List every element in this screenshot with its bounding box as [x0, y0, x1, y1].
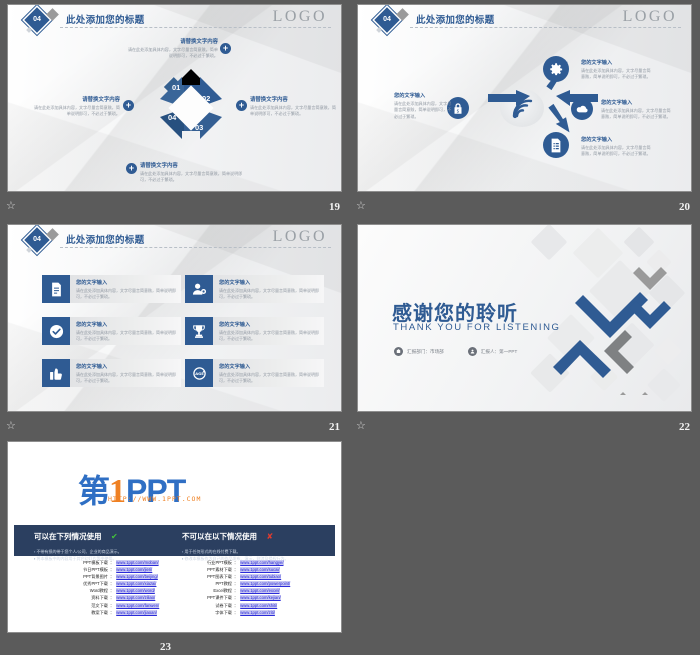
- link-row[interactable]: PPT模板下载：www.1ppt.com/moban/: [74, 560, 159, 566]
- radial-text-document-desc: 请在此处添加具体内容，文字尽量言简意赅，简单说明即可，不必过于繁琐。: [581, 145, 653, 158]
- cycle-text-left-desc: 请在此处添加具体内容，文字尽量言简意赅，简单说明即可，不必过于繁琐。: [34, 105, 120, 118]
- link-label: PPT模板下载: [74, 560, 108, 566]
- list-item[interactable]: 您的文字输入 请在此处添加具体内容，文字尽量言简意赅，简单说明即可，不必过于繁琐…: [185, 317, 324, 345]
- slide-20[interactable]: 04 此处添加您的标题 LOGO: [358, 5, 691, 191]
- cycle-number-01: 01: [172, 83, 180, 92]
- section-badge-number: 04: [28, 11, 46, 29]
- page-title: 此处添加您的标题: [66, 12, 144, 26]
- link-row[interactable]: 范文下载：www.1ppt.com/fanwen/: [74, 603, 159, 609]
- slide-22[interactable]: 感谢您的聆听 THANK YOU FOR LISTENING 汇报部门：市场部 …: [358, 225, 691, 411]
- link-label: PPT课件下载: [198, 595, 232, 601]
- link-url[interactable]: www.1ppt.com/sucai/: [240, 567, 279, 572]
- link-separator: ：: [108, 581, 116, 587]
- trophy-icon: [185, 317, 213, 345]
- list-item-title: 您的文字输入: [76, 279, 180, 286]
- radial-text-cloud: 您的文字输入 请在此处添加具体内容，文字尽量言简意赅，简单说明即可，不必过于繁琐…: [601, 99, 671, 121]
- slide-cell-20[interactable]: 04 此处添加您的标题 LOGO: [350, 0, 700, 215]
- star-outline-icon[interactable]: ☆: [356, 200, 368, 212]
- link-row[interactable]: Excel教程：www.1ppt.com/excel/: [198, 588, 290, 594]
- list-item-desc: 请在此处添加具体内容，文字尽量言简意赅，简单说明即可，不必过于繁琐。: [219, 372, 323, 384]
- link-url[interactable]: www.1ppt.com/ziti/: [240, 610, 275, 615]
- cycle-text-bottom-title: 请替换文字内容: [140, 161, 244, 169]
- link-separator: ：: [108, 560, 116, 566]
- cycle-arrow-shape: [148, 65, 234, 151]
- radial-text-gear-desc: 请在此处添加具体内容，文字尽量言简意赅，简单说明即可，不必过于繁琐。: [581, 68, 651, 81]
- cycle-text-right-desc: 请在此处添加具体内容，文字尽量言简意赅，简单说明即可，不必过于繁琐。: [250, 105, 338, 118]
- cross-mark-icon: ✘: [266, 532, 273, 541]
- slide-caption-bar-23: 23: [0, 635, 350, 655]
- link-separator: ：: [108, 588, 116, 594]
- link-label: 字体下载: [198, 610, 232, 616]
- license-band: 可以在下列情况使用 ✔ 不带有损的带于您个人/公司、企业的商品演示。 将本模板中…: [14, 525, 335, 556]
- radial-text-cloud-desc: 请在此处添加具体内容，文字尽量言简意赅，简单说明即可，不必过于繁琐。: [601, 108, 671, 121]
- plus-icon: +: [123, 100, 134, 111]
- slide-23[interactable]: 第 1 PPT HTTP://WWW.1PPT.COM 可以在下列情况使用 ✔ …: [8, 442, 341, 632]
- link-label: PPT图表下载: [198, 574, 232, 580]
- link-url[interactable]: www.1ppt.com/tubiao/: [240, 574, 281, 579]
- link-separator: ：: [232, 560, 240, 566]
- list-item[interactable]: 您的文字输入 请在此处添加具体内容，文字尽量言简意赅，简单说明即可，不必过于繁琐…: [42, 275, 181, 303]
- cycle-text-left: 请替换文字内容 请在此处添加具体内容，文字尽量言简意赅，简单说明即可，不必过于繁…: [34, 95, 120, 117]
- link-row[interactable]: 试卷下载：www.1ppt.com/shiti/: [198, 603, 290, 609]
- cycle-number-04: 04: [168, 113, 176, 122]
- license-allowed-item: 不带有损的带于您个人/公司、企业的商品演示。: [34, 549, 174, 554]
- cycle-text-bottom: 请替换文字内容 请在此处添加具体内容，文字尽量言简意赅，简单说明即可，不必过于繁…: [140, 161, 244, 183]
- header-divider: [60, 247, 331, 248]
- license-forbidden-heading: 不可以在以下情况使用: [182, 531, 257, 542]
- slide-thumbnail-grid: 04 此处添加您的标题 LOGO: [0, 0, 700, 655]
- document-icon: [42, 275, 70, 303]
- link-label: PPT背景图片: [74, 574, 108, 580]
- link-row[interactable]: 优秀PPT下载：www.1ppt.com/xiazai/: [74, 581, 159, 587]
- list-item-title: 您的文字输入: [219, 363, 323, 370]
- logo: LOGO: [623, 8, 677, 26]
- link-separator: ：: [108, 603, 116, 609]
- link-url[interactable]: www.1ppt.com/shiti/: [240, 603, 277, 608]
- resource-links: PPT模板下载：www.1ppt.com/moban/ 节日PPT模板：www.…: [8, 560, 341, 622]
- link-url[interactable]: www.1ppt.com/kejian/: [240, 595, 281, 600]
- link-url[interactable]: www.1ppt.com/beijing/: [116, 574, 158, 579]
- resource-links-column-right: 行业PPT模板：www.1ppt.com/hangye/ PPT素材下载：www…: [198, 560, 290, 617]
- slide-page-number: 22: [679, 421, 690, 433]
- brand-url: HTTP://WWW.1PPT.COM: [108, 495, 201, 503]
- link-row[interactable]: PPT素材下载：www.1ppt.com/sucai/: [198, 567, 290, 573]
- slide-21[interactable]: 04 此处添加您的标题 LOGO 您的文字输入 请在此处添加具体内容，文字尽量言…: [8, 225, 341, 411]
- link-label: PPT教程: [198, 581, 232, 587]
- logo: LOGO: [273, 8, 327, 26]
- meta-presenter-label: 汇报人：第一PPT: [481, 349, 518, 355]
- thank-you-meta: 汇报部门：市场部 汇报人：第一PPT: [394, 347, 517, 356]
- cycle-text-left-title: 请替换文字内容: [34, 95, 120, 103]
- department-icon: [394, 347, 403, 356]
- link-url[interactable]: www.1ppt.com/word/: [116, 588, 155, 593]
- slide-caption-bar-21: ☆ 21: [0, 415, 350, 435]
- cycle-number-03: 03: [195, 123, 203, 132]
- slide-19[interactable]: 04 此处添加您的标题 LOGO: [8, 5, 341, 191]
- check-mark-icon: ✔: [111, 532, 118, 541]
- license-allowed-heading: 可以在下列情况使用: [34, 531, 102, 542]
- link-row[interactable]: 节日PPT模板：www.1ppt.com/jieri/: [74, 567, 159, 573]
- link-label: 试卷下载: [198, 603, 232, 609]
- link-label: 教案下载: [74, 610, 108, 616]
- list-item-desc: 请在此处添加具体内容，文字尽量言简意赅，简单说明即可，不必过于繁琐。: [76, 372, 180, 384]
- refresh-circle-icon: AGE: [185, 359, 213, 387]
- link-separator: ：: [232, 610, 240, 616]
- list-item-title: 您的文字输入: [219, 279, 323, 286]
- person-icon: [468, 347, 477, 356]
- decor-chevrons: [528, 245, 691, 395]
- plus-icon: +: [220, 43, 231, 54]
- slide-cell-23[interactable]: 第 1 PPT HTTP://WWW.1PPT.COM 可以在下列情况使用 ✔ …: [0, 437, 350, 655]
- cycle-text-bottom-desc: 请在此处添加具体内容，文字尽量言简意赅，简单说明即可，不必过于繁琐。: [140, 171, 244, 184]
- list-item-title: 您的文字输入: [219, 321, 323, 328]
- plus-icon: +: [236, 100, 247, 111]
- thank-you-subtitle: THANK YOU FOR LISTENING: [393, 322, 561, 333]
- link-url[interactable]: www.1ppt.com/jieri/: [116, 567, 152, 572]
- page-title: 此处添加您的标题: [66, 232, 144, 246]
- svg-text:AGE: AGE: [195, 372, 204, 376]
- radial-text-gear-title: 您的文字输入: [581, 59, 651, 66]
- cycle-text-right-title: 请替换文字内容: [250, 95, 338, 103]
- meta-department-label: 汇报部门：市场部: [407, 349, 444, 355]
- list-item-title: 您的文字输入: [76, 321, 180, 328]
- list-item-desc: 请在此处添加具体内容，文字尽量言简意赅，简单说明即可，不必过于繁琐。: [219, 330, 323, 342]
- list-item-text: 您的文字输入 请在此处添加具体内容，文字尽量言简意赅，简单说明即可，不必过于繁琐…: [76, 279, 180, 300]
- link-row[interactable]: Word教程：www.1ppt.com/word/: [74, 588, 159, 594]
- link-row[interactable]: 行业PPT模板：www.1ppt.com/hangye/: [198, 560, 290, 566]
- cycle-diagram: 01 02 03 04 请替换文字内容 请在此处添加具体内容，文字尽量言简意赅，…: [8, 33, 341, 191]
- list-item-text: 您的文字输入 请在此处添加具体内容，文字尽量言简意赅，简单说明即可，不必过于繁琐…: [219, 363, 323, 384]
- slide-page-number: 20: [679, 201, 690, 213]
- link-separator: ：: [232, 567, 240, 573]
- star-outline-icon[interactable]: ☆: [356, 420, 368, 432]
- link-url[interactable]: www.1ppt.com/moban/: [116, 560, 158, 565]
- slide-page-number: 19: [329, 201, 340, 213]
- list-item-desc: 请在此处添加具体内容，文字尽量言简意赅，简单说明即可，不必过于繁琐。: [219, 288, 323, 300]
- link-url[interactable]: www.1ppt.com/jiaoan/: [116, 610, 157, 615]
- header-divider: [410, 27, 681, 28]
- radial-text-lock: 您的文字输入 请在此处添加具体内容，文字尽量言简意赅，简单说明即可，不必过于繁琐…: [394, 92, 452, 120]
- radial-text-document-title: 您的文字输入: [581, 136, 653, 143]
- link-row[interactable]: 资料下载：www.1ppt.com/ziliao/: [74, 595, 159, 601]
- link-row[interactable]: PPT图表下载：www.1ppt.com/tubiao/: [198, 574, 290, 580]
- list-item-desc: 请在此处添加具体内容，文字尽量言简意赅，简单说明即可，不必过于繁琐。: [76, 288, 180, 300]
- brand-prefix: 第: [78, 466, 109, 512]
- slide-cell-22[interactable]: 感谢您的聆听 THANK YOU FOR LISTENING 汇报部门：市场部 …: [350, 220, 700, 435]
- license-forbidden-item: 用于任何形式的在线付费下载。: [182, 549, 332, 554]
- radial-text-lock-desc: 请在此处添加具体内容，文字尽量言简意赅，简单说明即可，不必过于繁琐。: [394, 101, 452, 121]
- cycle-arrows: 01 02 03 04: [148, 65, 234, 151]
- license-allowed: 可以在下列情况使用 ✔ 不带有损的带于您个人/公司、企业的商品演示。 将本模板中…: [34, 528, 174, 561]
- radial-text-lock-title: 您的文字输入: [394, 92, 452, 99]
- link-url[interactable]: www.1ppt.com/excel/: [240, 588, 279, 593]
- thumbs-up-icon: [42, 359, 70, 387]
- svg-text:$: $: [457, 108, 460, 114]
- link-label: Word教程: [74, 588, 108, 594]
- slide-caption-bar-19: ☆ 19: [0, 195, 350, 215]
- link-separator: ：: [232, 574, 240, 580]
- link-separator: ：: [108, 574, 116, 580]
- logo: LOGO: [273, 228, 327, 246]
- meta-presenter: 汇报人：第一PPT: [468, 347, 518, 356]
- slide-header: 04 此处添加您的标题 LOGO: [358, 5, 691, 35]
- cycle-number-02: 02: [202, 94, 210, 103]
- user-settings-icon: [185, 275, 213, 303]
- link-separator: ：: [108, 610, 116, 616]
- star-outline-icon[interactable]: ☆: [6, 200, 18, 212]
- page-title: 此处添加您的标题: [416, 12, 494, 26]
- license-forbidden: 不可以在以下情况使用 ✘ 用于任何形式的在线付费下载。 修改本模板作为自己的作品…: [182, 528, 332, 561]
- link-url[interactable]: www.1ppt.com/hangye/: [240, 560, 283, 565]
- plus-icon: +: [126, 163, 137, 174]
- slide-page-number: 23: [160, 641, 171, 653]
- slide-caption-bar-20: ☆ 20: [350, 195, 700, 215]
- list-item[interactable]: AGE 您的文字输入 请在此处添加具体内容，文字尽量言简意赅，简单说明即可，不必…: [185, 359, 324, 387]
- list-item-text: 您的文字输入 请在此处添加具体内容，文字尽量言简意赅，简单说明即可，不必过于繁琐…: [76, 321, 180, 342]
- link-label: PPT素材下载: [198, 567, 232, 573]
- slide-cell-21[interactable]: 04 此处添加您的标题 LOGO 您的文字输入 请在此处添加具体内容，文字尽量言…: [0, 220, 350, 435]
- radial-text-gear: 您的文字输入 请在此处添加具体内容，文字尽量言简意赅，简单说明即可，不必过于繁琐…: [581, 59, 651, 81]
- radial-text-cloud-title: 您的文字输入: [601, 99, 671, 106]
- link-url[interactable]: www.1ppt.com/xiazai/: [116, 581, 156, 586]
- section-badge-number: 04: [378, 11, 396, 29]
- link-separator: ：: [108, 595, 116, 601]
- list-item[interactable]: 您的文字输入 请在此处添加具体内容，文字尽量言简意赅，简单说明即可，不必过于繁琐…: [185, 275, 324, 303]
- list-item-desc: 请在此处添加具体内容，文字尽量言简意赅，简单说明即可，不必过于繁琐。: [76, 330, 180, 342]
- section-badge-number: 04: [28, 231, 46, 249]
- link-separator: ：: [232, 603, 240, 609]
- star-outline-icon[interactable]: ☆: [6, 420, 18, 432]
- header-divider: [60, 27, 331, 28]
- document-icon: [543, 132, 569, 158]
- resource-links-column-left: PPT模板下载：www.1ppt.com/moban/ 节日PPT模板：www.…: [74, 560, 159, 617]
- check-circle-icon: [42, 317, 70, 345]
- link-row[interactable]: PPT课件下载：www.1ppt.com/kejian/: [198, 595, 290, 601]
- link-label: 行业PPT模板: [198, 560, 232, 566]
- brand-one: 1: [109, 473, 126, 511]
- link-label: Excel教程: [198, 588, 232, 594]
- link-label: 节日PPT模板: [74, 567, 108, 573]
- link-label: 范文下载: [74, 603, 108, 609]
- link-url[interactable]: www.1ppt.com/powerpoint/: [240, 581, 290, 586]
- slide-caption-bar-22: ☆ 22: [350, 415, 700, 435]
- link-label: 优秀PPT下载: [74, 581, 108, 587]
- link-separator: ：: [232, 581, 240, 587]
- radial-text-document: 您的文字输入 请在此处添加具体内容，文字尽量言简意赅，简单说明即可，不必过于繁琐…: [581, 136, 653, 158]
- meta-department: 汇报部门：市场部: [394, 347, 444, 356]
- link-separator: ：: [232, 595, 240, 601]
- link-row[interactable]: 字体下载：www.1ppt.com/ziti/: [198, 610, 290, 616]
- cycle-text-top-desc: 请在此处添加具体内容，文字尽量言简意赅，简单说明即可，不必过于繁琐。: [126, 47, 218, 60]
- slide-header: 04 此处添加您的标题 LOGO: [8, 225, 341, 255]
- link-label: 资料下载: [74, 595, 108, 601]
- cycle-text-top: 请替换文字内容 请在此处添加具体内容，文字尽量言简意赅，简单说明即可，不必过于繁…: [126, 37, 218, 59]
- brand-suffix: PPT: [126, 473, 185, 510]
- cycle-text-right: 请替换文字内容 请在此处添加具体内容，文字尽量言简意赅，简单说明即可，不必过于繁…: [250, 95, 338, 117]
- list-item[interactable]: 您的文字输入 请在此处添加具体内容，文字尽量言简意赅，简单说明即可，不必过于繁琐…: [42, 317, 181, 345]
- cloud-icon: [571, 98, 593, 120]
- list-item-title: 您的文字输入: [76, 363, 180, 370]
- link-row[interactable]: PPT教程：www.1ppt.com/powerpoint/: [198, 581, 290, 587]
- list-item[interactable]: 您的文字输入 请在此处添加具体内容，文字尽量言简意赅，简单说明即可，不必过于繁琐…: [42, 359, 181, 387]
- slide-cell-19[interactable]: 04 此处添加您的标题 LOGO: [0, 0, 350, 215]
- gear-icon: [543, 56, 569, 82]
- list-item-text: 您的文字输入 请在此处添加具体内容，文字尽量言简意赅，简单说明即可，不必过于繁琐…: [219, 279, 323, 300]
- link-separator: ：: [108, 567, 116, 573]
- list-item-text: 您的文字输入 请在此处添加具体内容，文字尽量言简意赅，简单说明即可，不必过于繁琐…: [219, 321, 323, 342]
- slide-page-number: 21: [329, 421, 340, 433]
- link-separator: ：: [232, 588, 240, 594]
- link-url[interactable]: www.1ppt.com/ziliao/: [116, 595, 155, 600]
- link-row[interactable]: PPT背景图片：www.1ppt.com/beijing/: [74, 574, 159, 580]
- link-url[interactable]: www.1ppt.com/fanwen/: [116, 603, 159, 608]
- list-item-text: 您的文字输入 请在此处添加具体内容，文字尽量言简意赅，简单说明即可，不必过于繁琐…: [76, 363, 180, 384]
- slide-header: 04 此处添加您的标题 LOGO: [8, 5, 341, 35]
- link-row[interactable]: 教案下载：www.1ppt.com/jiaoan/: [74, 610, 159, 616]
- cycle-text-top-title: 请替换文字内容: [126, 37, 218, 45]
